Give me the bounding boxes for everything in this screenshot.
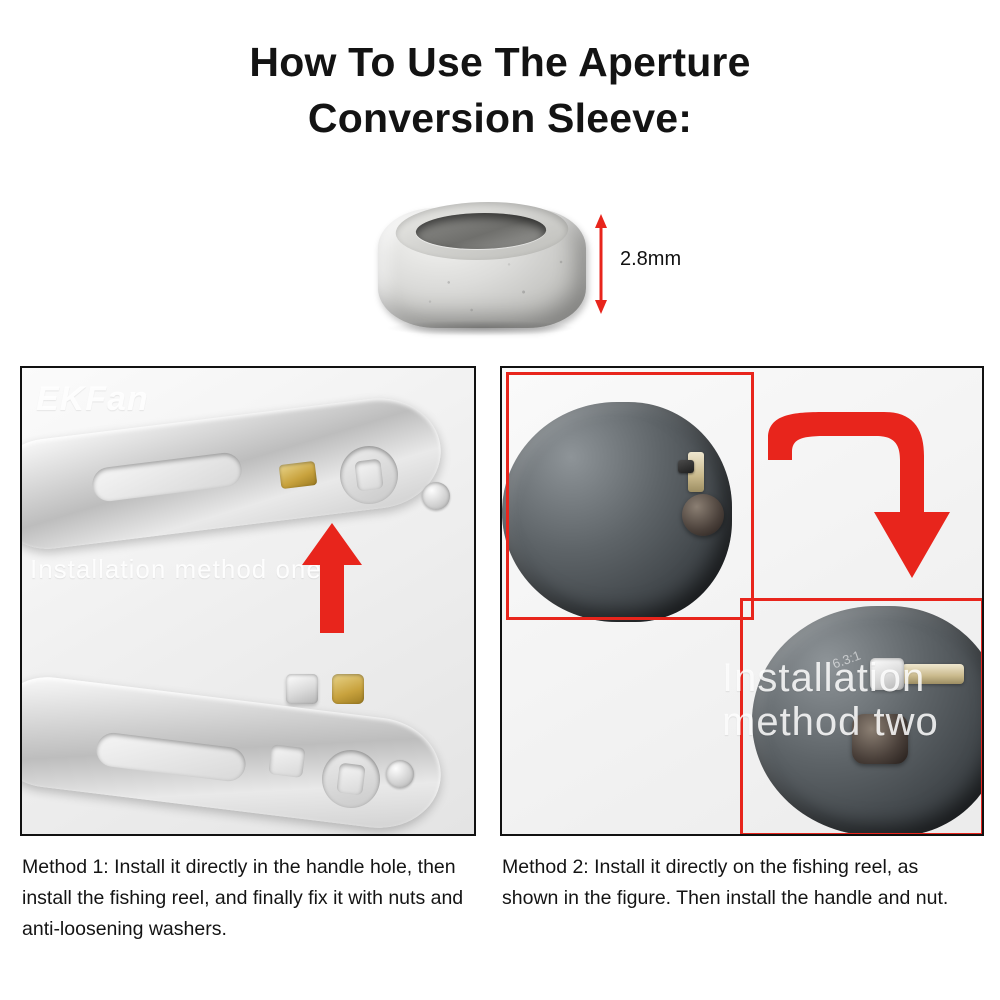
page-title-line-1: How To Use The Aperture <box>249 39 750 85</box>
handle-empty-hole-lower <box>268 744 305 778</box>
brass-sleeve-part <box>332 674 364 704</box>
sleeve-shadow <box>386 320 576 336</box>
dimension-label: 2.8mm <box>620 248 681 271</box>
handle-screw-upper <box>422 482 450 510</box>
red-arrow-down-icon <box>764 408 954 588</box>
handle-square-hole-upper <box>354 459 383 492</box>
caption-method-two: Method 2: Install it directly on the fis… <box>502 852 972 914</box>
dimension-arrow-icon <box>594 214 608 314</box>
panel-method-two: 6.3:1 Installation method two <box>500 366 984 836</box>
red-arrow-up-icon <box>302 523 362 633</box>
brass-sleeve-installed <box>279 461 318 489</box>
handle-square-hole-lower <box>336 763 365 796</box>
sleeve-hero-photo: 2.8mm <box>370 196 610 346</box>
handle-screw-lower <box>386 760 414 788</box>
infographic-page: How To Use The Aperture Conversion Sleev… <box>0 0 1000 1000</box>
silver-sleeve-part <box>286 674 318 704</box>
highlight-box-bottom <box>740 598 984 836</box>
highlight-box-top <box>506 372 754 620</box>
page-title: How To Use The Aperture Conversion Sleev… <box>0 34 1000 146</box>
panel-method-one: EKFan Installation method one <box>20 366 476 836</box>
caption-method-one: Method 1: Install it directly in the han… <box>22 852 474 945</box>
page-title-line-2: Conversion Sleeve: <box>0 90 1000 146</box>
